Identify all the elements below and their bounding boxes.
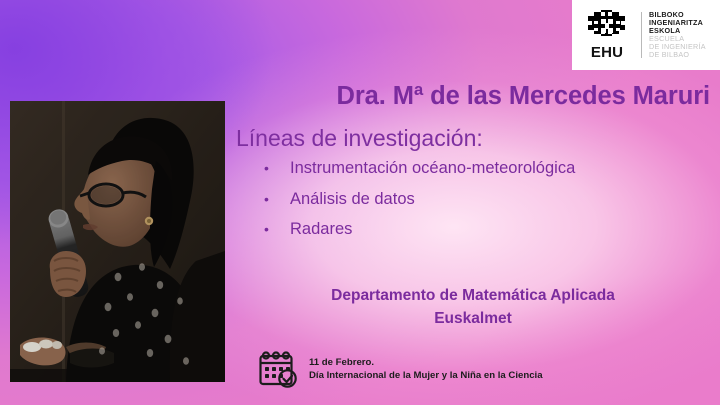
bullet-icon: • [264,222,290,236]
slide-canvas: EHU BILBOKO INGENIARITZA ESKOLA ESCUELA … [0,0,720,405]
speaker-name-title: Dra. Mª de las Mercedes Maruri [236,82,710,111]
list-item-label: Instrumentación océano-meteorológica [290,160,575,177]
affiliation-block: Departamento de Matemática Aplicada Eusk… [236,284,710,331]
list-item-label: Radares [290,221,352,238]
research-lines-list: • Instrumentación océano-meteorológica •… [264,160,575,252]
department-name: Departamento de Matemática Aplicada [236,284,710,307]
list-item: • Instrumentación océano-meteorológica [264,160,575,177]
ehu-logo-mark: EHU [572,10,638,60]
date-text: 11 de Febrero. Día Internacional de la M… [309,356,543,383]
research-lines-heading: Líneas de investigación: [236,125,483,152]
date-banner: 11 de Febrero. Día Internacional de la M… [258,349,543,389]
list-item-label: Análisis de datos [290,191,415,208]
list-item: • Análisis de datos [264,191,575,208]
date-line-2: Día Internacional de la Mujer y la Niña … [309,369,543,382]
logo-wordmark: BILBOKO INGENIARITZA ESKOLA ESCUELA DE I… [649,11,706,59]
organization-name: Euskalmet [236,307,710,330]
list-item: • Radares [264,221,575,238]
logo-spanish-line-3: DE BILBAO [649,51,706,59]
lauburu-icon [586,10,628,42]
date-line-1: 11 de Febrero. [309,356,543,369]
calendar-check-icon [258,349,300,389]
bullet-icon: • [264,192,290,206]
speaker-photo [10,101,225,382]
ehu-logo-panel: EHU BILBOKO INGENIARITZA ESKOLA ESCUELA … [572,0,720,70]
logo-divider [641,12,642,58]
ehu-acronym: EHU [591,45,623,60]
bullet-icon: • [264,161,290,175]
